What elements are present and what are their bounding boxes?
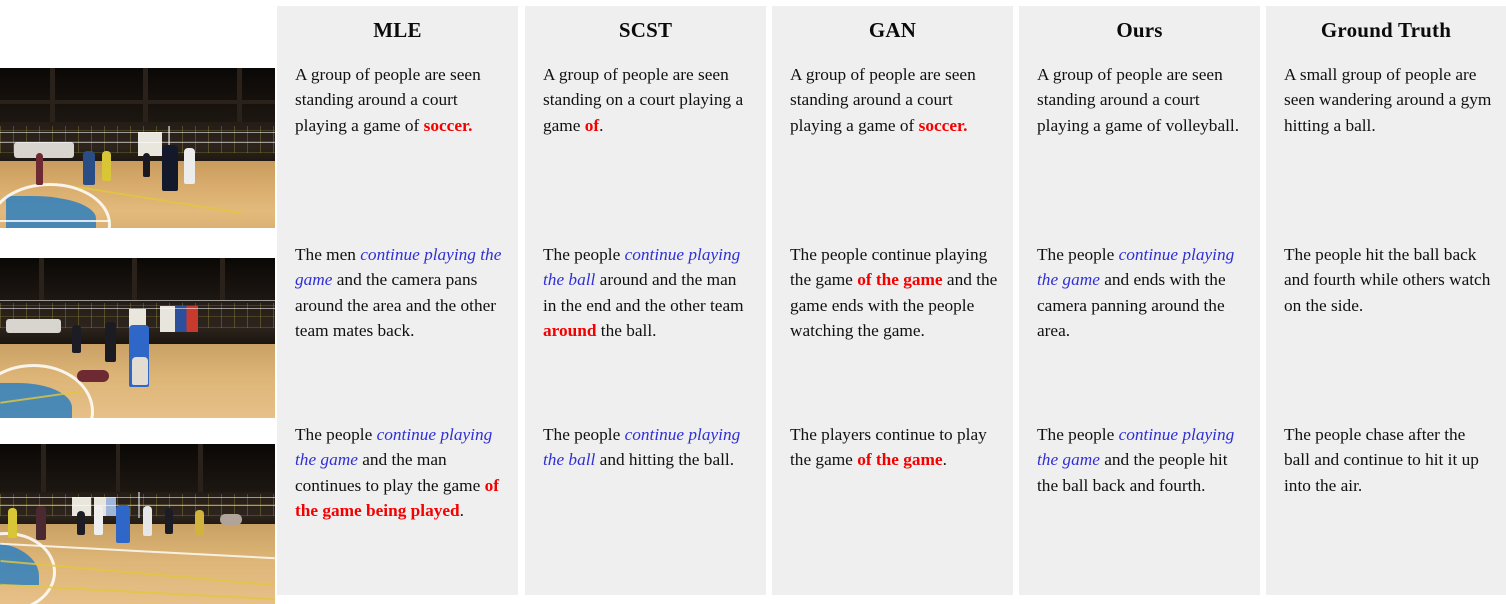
- caption-cell-mle-3: The people continue playing the game and…: [295, 422, 504, 524]
- caption-grid: MLE A group of people are seen standing …: [277, 0, 1506, 604]
- caption-cell-mle-2: The men continue playing the game and th…: [295, 242, 504, 344]
- caption-cell-ours-1: A group of people are seen standing arou…: [1037, 62, 1246, 138]
- video-frame-2: [0, 258, 275, 418]
- caption-column-mle: MLE A group of people are seen standing …: [277, 6, 518, 595]
- video-frames-column: [0, 0, 275, 604]
- caption-cell-ours-3: The people continue playing the game and…: [1037, 422, 1246, 498]
- video-frame-3: [0, 444, 275, 604]
- video-frame-1: [0, 68, 275, 228]
- caption-cell-mle-1: A group of people are seen standing arou…: [295, 62, 504, 138]
- caption-cell-ours-2: The people continue playing the game and…: [1037, 242, 1246, 344]
- column-header-mle: MLE: [277, 18, 518, 43]
- caption-column-gan: GAN A group of people are seen standing …: [772, 6, 1013, 595]
- caption-column-ground-truth: Ground Truth A small group of people are…: [1266, 6, 1506, 595]
- caption-cell-scst-3: The people continue playing the ball and…: [543, 422, 752, 473]
- column-header-scst: SCST: [525, 18, 766, 43]
- caption-cell-scst-2: The people continue playing the ball aro…: [543, 242, 752, 344]
- caption-cell-gan-2: The people continue playing the game of …: [790, 242, 999, 344]
- caption-cell-gt-1: A small group of people are seen wanderi…: [1284, 62, 1492, 138]
- column-header-gan: GAN: [772, 18, 1013, 43]
- qualitative-comparison-figure: MLE A group of people are seen standing …: [0, 0, 1506, 604]
- caption-column-ours: Ours A group of people are seen standing…: [1019, 6, 1260, 595]
- caption-cell-gt-3: The people chase after the ball and cont…: [1284, 422, 1492, 498]
- caption-cell-gan-1: A group of people are seen standing arou…: [790, 62, 999, 138]
- caption-cell-gt-2: The people hit the ball back and fourth …: [1284, 242, 1492, 318]
- caption-cell-gan-3: The players continue to play the game of…: [790, 422, 999, 473]
- column-header-ours: Ours: [1019, 18, 1260, 43]
- column-header-ground-truth: Ground Truth: [1266, 18, 1506, 43]
- caption-column-scst: SCST A group of people are seen standing…: [525, 6, 766, 595]
- caption-cell-scst-1: A group of people are seen standing on a…: [543, 62, 752, 138]
